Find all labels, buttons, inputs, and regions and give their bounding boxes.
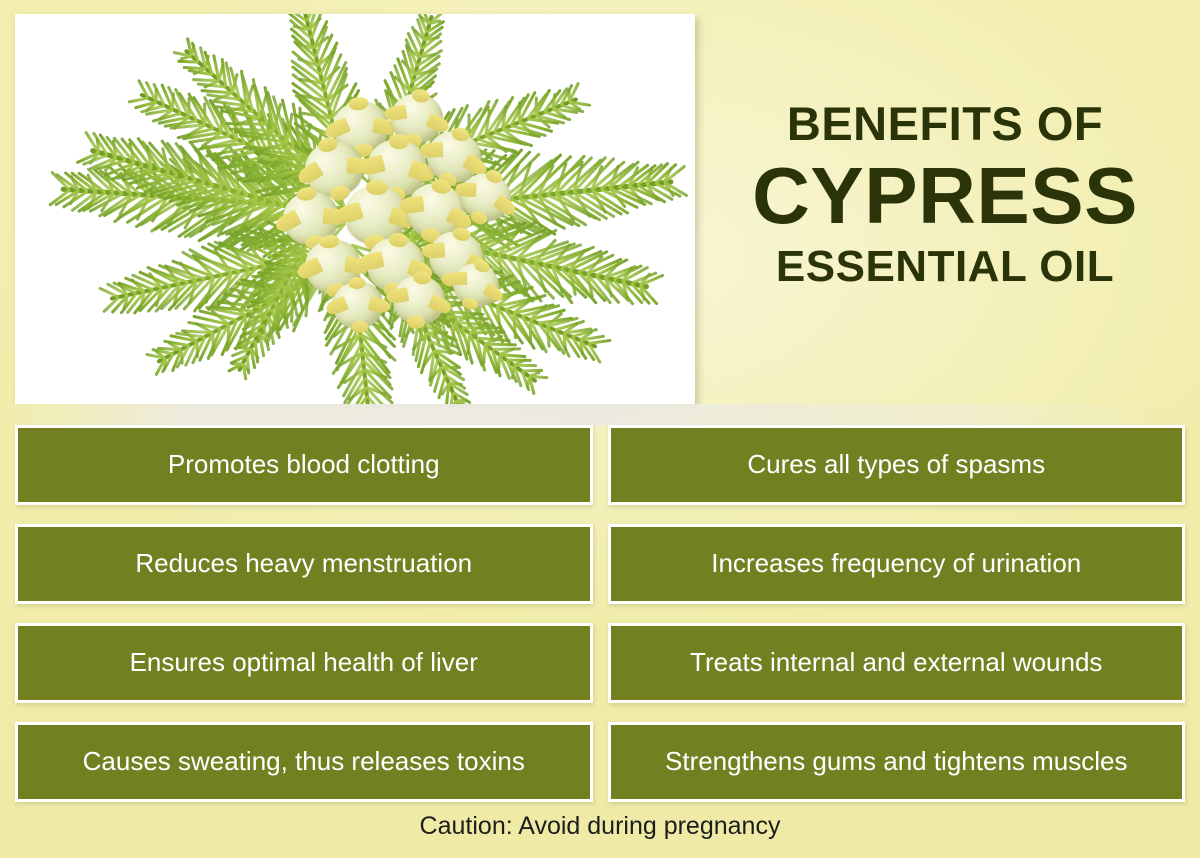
headline-line-cypress: CYPRESS [700, 151, 1190, 241]
cone-spike [351, 320, 369, 333]
benefit-box: Reduces heavy menstruation [15, 524, 593, 604]
benefit-box: Treats internal and external wounds [608, 623, 1186, 703]
grid-backdrop-band [0, 404, 1200, 426]
cone-spike [451, 226, 472, 243]
benefit-box: Cures all types of spasms [608, 425, 1186, 505]
cypress-leaflet [187, 97, 191, 117]
cypress-leaflet [261, 284, 284, 288]
cone-spike [348, 277, 366, 290]
benefit-box: Increases frequency of urination [608, 524, 1186, 604]
cypress-leaflet [195, 341, 199, 358]
benefit-label: Cures all types of spasms [737, 450, 1055, 480]
cone-spike [366, 180, 388, 196]
cypress-leaflet [249, 315, 267, 319]
cone-spike [388, 134, 409, 150]
cypress-leaflet [244, 331, 260, 335]
cypress-leaflet [163, 358, 167, 370]
cypress-leaflet [155, 87, 159, 102]
cypress-leaflet [255, 300, 276, 304]
cone-spike [348, 96, 368, 111]
infographic-canvas: BENEFITS OF CYPRESS ESSENTIAL OIL Promot… [0, 0, 1200, 858]
headline-line-essential-oil: ESSENTIAL OIL [700, 244, 1190, 291]
cypress-branch-photo [15, 14, 695, 404]
headline-block: BENEFITS OF CYPRESS ESSENTIAL OIL [700, 100, 1190, 291]
headline-line-benefits-of: BENEFITS OF [700, 100, 1190, 149]
cypress-leaflet [211, 332, 215, 352]
benefit-box: Causes sweating, thus releases toxins [15, 722, 593, 802]
cypress-leaflet [528, 320, 532, 343]
cone-spike [411, 88, 431, 103]
benefit-label: Reduces heavy menstruation [125, 549, 482, 579]
cypress-leaflet [232, 362, 243, 366]
cypress-leaflet [481, 344, 486, 364]
benefit-box: Ensures optimal health of liver [15, 623, 593, 703]
benefit-label: Promotes blood clotting [158, 450, 450, 480]
benefit-label: Increases frequency of urination [701, 549, 1091, 579]
benefits-grid: Promotes blood clottingCures all types o… [15, 425, 1185, 802]
cypress-leaflet [272, 253, 301, 257]
benefit-label: Strengthens gums and tightens muscles [655, 747, 1137, 777]
benefit-label: Ensures optimal health of liver [120, 648, 488, 678]
cypress-leaflet [497, 355, 501, 372]
cypress-photo-card [15, 14, 695, 404]
benefit-box: Promotes blood clotting [15, 425, 593, 505]
cone-spike [319, 234, 340, 250]
benefit-label: Treats internal and external wounds [680, 648, 1112, 678]
caution-note: Caution: Avoid during pregnancy [0, 812, 1200, 841]
benefit-label: Causes sweating, thus releases toxins [73, 747, 535, 777]
benefit-box: Strengthens gums and tightens muscles [608, 722, 1186, 802]
